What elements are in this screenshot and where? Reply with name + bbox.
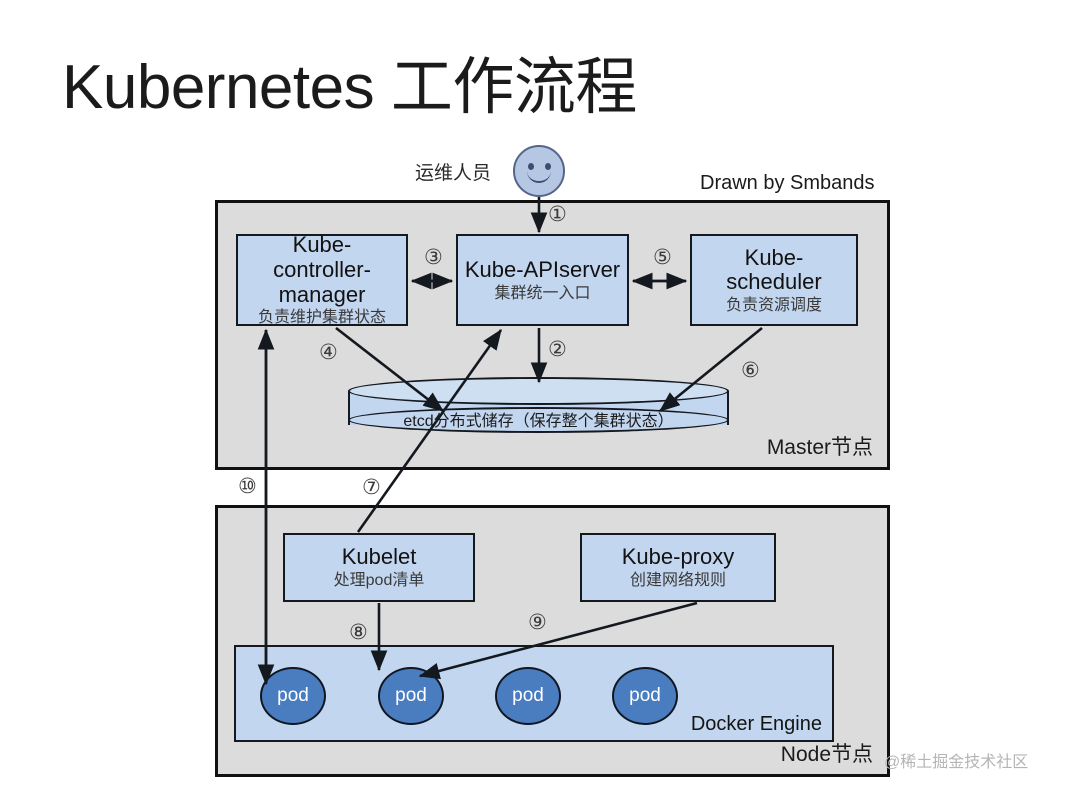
credit-text: Drawn by Smbands — [700, 172, 875, 195]
datastore-etcd[interactable]: etcd分布式储存（保存整个集群状态） — [348, 377, 729, 433]
step-marker-8: ⑧ — [349, 620, 368, 645]
component-title: Kube-scheduler — [698, 246, 850, 295]
component-kubelet[interactable]: Kubelet 处理pod清单 — [283, 533, 475, 602]
kubernetes-workflow-diagram: Kubernetes 工作流程 运维人员 Drawn by Smbands Ma… — [0, 0, 1072, 804]
component-subtitle: 处理pod清单 — [334, 572, 425, 590]
step-marker-2: ② — [548, 337, 567, 362]
step-marker-1: ① — [548, 202, 567, 227]
step-marker-7: ⑦ — [362, 475, 381, 500]
pod-2[interactable]: pod — [378, 667, 444, 725]
cylinder-top — [348, 377, 729, 405]
actor-label: 运维人员 — [415, 158, 491, 185]
node-panel-label: Node节点 — [781, 738, 873, 768]
docker-engine-label: Docker Engine — [691, 713, 822, 736]
smiley-left-eye — [528, 163, 534, 170]
component-subtitle: 负责维护集群状态 — [258, 309, 386, 327]
master-panel-label: Master节点 — [767, 431, 873, 461]
pod-3[interactable]: pod — [495, 667, 561, 725]
pod-1[interactable]: pod — [260, 667, 326, 725]
component-subtitle: 集群统一入口 — [494, 285, 590, 303]
component-title: Kube-APIserver — [465, 258, 620, 283]
component-kube-controller-manager[interactable]: Kube-controller- manager 负责维护集群状态 — [236, 234, 408, 326]
step-marker-3: ③ — [424, 245, 443, 270]
smiley-face-icon — [513, 145, 565, 197]
component-title: Kubelet — [342, 545, 417, 570]
component-subtitle: 创建网络规则 — [630, 572, 726, 590]
component-subtitle: 负责资源调度 — [726, 297, 822, 315]
component-kube-proxy[interactable]: Kube-proxy 创建网络规则 — [580, 533, 776, 602]
step-marker-6: ⑥ — [741, 358, 760, 383]
step-marker-10: ⑩ — [238, 474, 257, 499]
step-marker-9: ⑨ — [528, 610, 547, 635]
watermark-text: @稀土掘金技术社区 — [884, 748, 1028, 772]
component-kube-scheduler[interactable]: Kube-scheduler 负责资源调度 — [690, 234, 858, 326]
step-marker-4: ④ — [319, 340, 338, 365]
smiley-right-eye — [545, 163, 551, 170]
datastore-label: etcd分布式储存（保存整个集群状态） — [348, 407, 729, 431]
component-title: Kube-controller- manager — [244, 233, 400, 307]
pod-4[interactable]: pod — [612, 667, 678, 725]
component-title: Kube-proxy — [622, 545, 735, 570]
smiley-mouth — [527, 171, 551, 183]
component-kube-apiserver[interactable]: Kube-APIserver 集群统一入口 — [456, 234, 629, 326]
page-title: Kubernetes 工作流程 — [62, 55, 637, 120]
docker-engine-container: pod pod pod pod Docker Engine — [234, 645, 834, 742]
step-marker-5: ⑤ — [653, 245, 672, 270]
